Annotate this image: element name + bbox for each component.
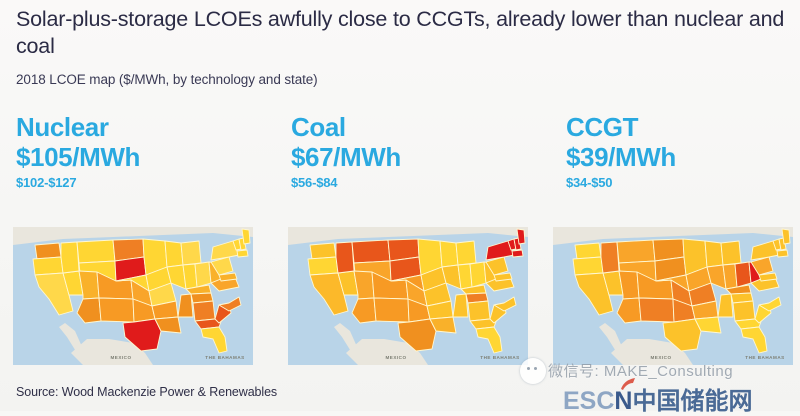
price-range-coal: $56-$84 [291, 174, 401, 192]
state-mi [721, 241, 741, 265]
state-wa [310, 243, 336, 259]
map-label-bahamas: THE BAHAMAS [205, 355, 244, 360]
state-ms [718, 294, 733, 317]
state-ma [777, 250, 788, 257]
state-wa [35, 243, 61, 259]
state-nm [374, 298, 409, 322]
map-label-mexico: MEXICO [385, 355, 406, 360]
technology-label-ccgt: CCGT [566, 113, 676, 142]
state-id [336, 242, 354, 273]
state-id [61, 242, 79, 273]
state-al [193, 301, 215, 321]
state-al [468, 301, 490, 321]
state-oh [195, 262, 211, 287]
state-or [573, 257, 603, 275]
map-label-mexico: MEXICO [650, 355, 671, 360]
state-wi [440, 241, 458, 267]
metric-column-coal: Coal $67/MWh $56-$84 [291, 113, 401, 192]
state-oh [735, 262, 751, 287]
price-value-nuclear: $105/MWh [16, 142, 140, 172]
price-value-coal: $67/MWh [291, 142, 401, 172]
state-ms [178, 294, 193, 317]
metric-column-nuclear: Nuclear $105/MWh $102-$127 [16, 113, 140, 192]
state-ma [237, 250, 248, 257]
state-nm [639, 298, 674, 322]
technology-label-nuclear: Nuclear [16, 113, 140, 142]
escn-red-accent [620, 378, 636, 390]
state-mt [352, 240, 390, 263]
state-mi [456, 241, 476, 265]
state-mt [617, 240, 655, 263]
state-or [33, 257, 63, 275]
state-or [308, 257, 338, 275]
state-mi [181, 241, 201, 265]
choropleth-map-coal: MEXICOTHE BAHAMAS [288, 227, 528, 365]
choropleth-map-ccgt: MEXICOTHE BAHAMAS [553, 227, 793, 365]
state-al [733, 301, 755, 321]
choropleth-map-nuclear: MEXICOTHE BAHAMAS [13, 227, 253, 365]
page-title: Solar-plus-storage LCOEs awfully close t… [16, 6, 786, 60]
state-ma [512, 250, 523, 257]
state-id [601, 242, 619, 273]
metric-column-ccgt: CCGT $39/MWh $34-$50 [566, 113, 676, 192]
price-value-ccgt: $39/MWh [566, 142, 676, 172]
slide-root: Solar-plus-storage LCOEs awfully close t… [0, 0, 800, 411]
state-wi [705, 241, 723, 267]
state-mt [77, 240, 115, 263]
state-wa [575, 243, 601, 259]
price-range-nuclear: $102-$127 [16, 174, 140, 192]
map-label-bahamas: THE BAHAMAS [745, 355, 784, 360]
state-nm [99, 298, 134, 322]
price-range-ccgt: $34-$50 [566, 174, 676, 192]
page-subtitle: 2018 LCOE map ($/MWh, by technology and … [16, 72, 318, 87]
state-oh [470, 262, 486, 287]
map-label-bahamas: THE BAHAMAS [480, 355, 519, 360]
state-ms [453, 294, 468, 317]
map-label-mexico: MEXICO [110, 355, 131, 360]
technology-label-coal: Coal [291, 113, 401, 142]
source-note: Source: Wood Mackenzie Power & Renewable… [16, 385, 277, 399]
state-wi [165, 241, 183, 267]
